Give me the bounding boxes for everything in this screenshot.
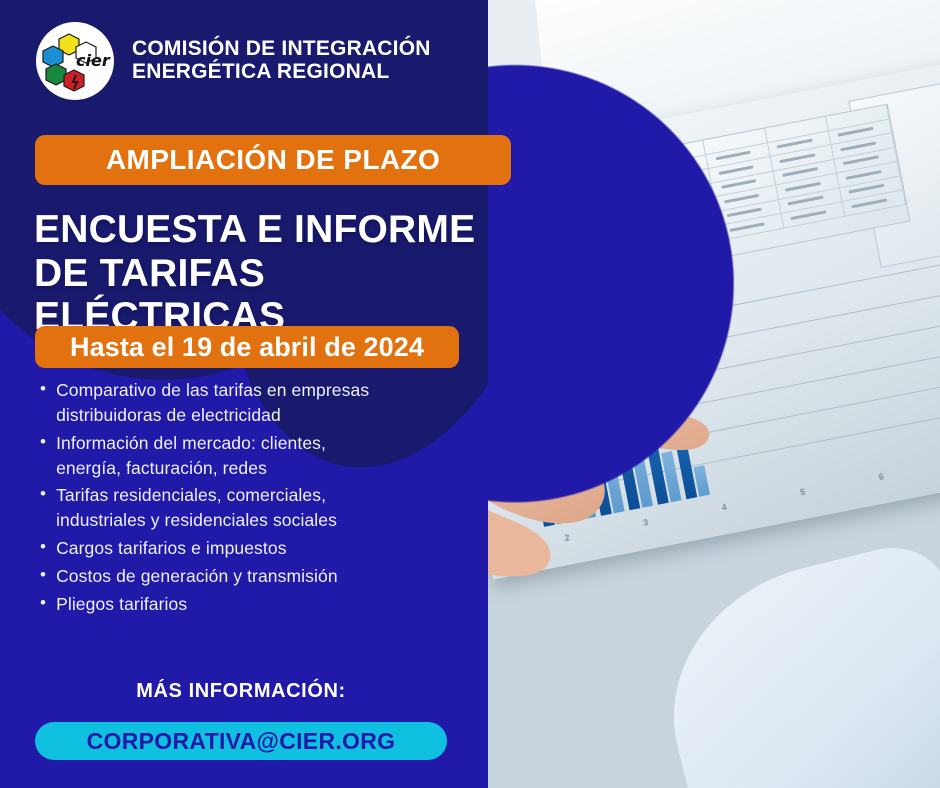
list-item-label: Cargos tarifarios e impuestos [56, 536, 287, 561]
pointing-hand [488, 286, 778, 586]
list-item: • Pliegos tarifarios [40, 592, 470, 617]
badge-ampliacion-de-plazo: AMPLIACIÓN DE PLAZO [35, 135, 511, 185]
badge-deadline-date: Hasta el 19 de abril de 2024 [35, 326, 459, 368]
list-item: • Costos de generación y transmisión [40, 564, 470, 589]
cier-logo: cier [36, 22, 114, 100]
x-tick-label: 5 [799, 487, 806, 498]
list-item: • Información del mercado: clientes, ene… [40, 431, 470, 481]
brand-header: cier COMISIÓN DE INTEGRACIÓN ENERGÉTICA … [36, 22, 431, 100]
report-data-table [593, 104, 910, 279]
list-item: • Comparativo de las tarifas en empresas… [40, 378, 470, 428]
poster-canvas: 350.000 300.000 250.000 [0, 0, 940, 788]
page-title: ENCUESTA E INFORME DE TARIFAS ELÉCTRICAS [34, 208, 500, 339]
bullet-marker: • [40, 431, 46, 454]
list-item: • Tarifas residenciales, comerciales, in… [40, 483, 470, 533]
cier-hexagons-icon: cier [36, 22, 114, 100]
photo-image: 350.000 300.000 250.000 [488, 0, 940, 788]
more-info-label: MÁS INFORMACIÓN: [0, 680, 482, 703]
logo-wordmark: cier [76, 51, 111, 70]
bullet-marker: • [40, 592, 46, 615]
list-item-label: Pliegos tarifarios [56, 592, 187, 617]
bullet-marker: • [40, 536, 46, 559]
photo-panel: 350.000 300.000 250.000 [488, 0, 940, 788]
feature-list: • Comparativo de las tarifas en empresas… [40, 378, 470, 620]
bullet-marker: • [40, 564, 46, 587]
list-item-label: Costos de generación y transmisión [56, 564, 338, 589]
list-item-label: Tarifas residenciales, comerciales, indu… [56, 483, 337, 533]
list-item-label: Información del mercado: clientes, energ… [56, 431, 326, 481]
organization-title: COMISIÓN DE INTEGRACIÓN ENERGÉTICA REGIO… [132, 38, 431, 83]
x-tick-label: 6 [878, 471, 885, 482]
contact-email-button[interactable]: CORPORATIVA@CIER.ORG [35, 722, 447, 760]
list-item-label: Comparativo de las tarifas en empresas d… [56, 378, 369, 428]
bullet-marker: • [40, 378, 46, 401]
list-item: • Cargos tarifarios e impuestos [40, 536, 470, 561]
bullet-marker: • [40, 483, 46, 506]
content-column: cier COMISIÓN DE INTEGRACIÓN ENERGÉTICA … [0, 0, 500, 788]
